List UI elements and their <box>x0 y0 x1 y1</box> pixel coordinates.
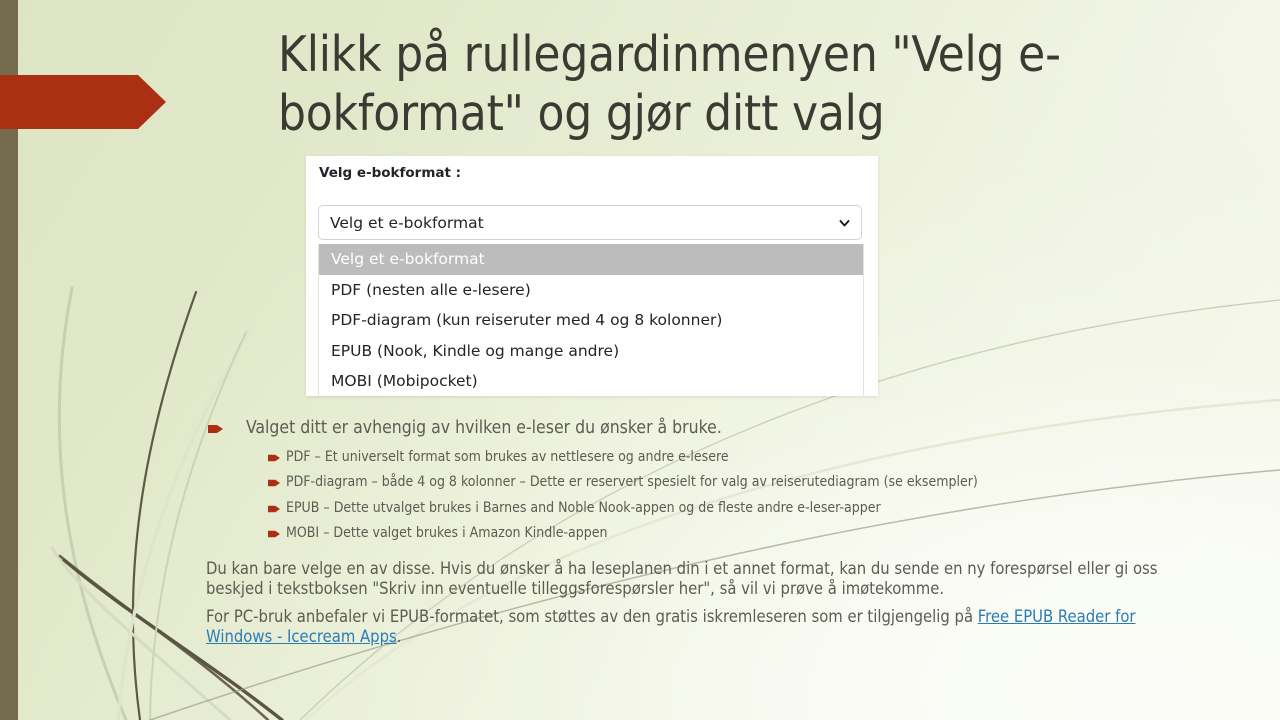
option-item[interactable]: Velg et e-bokformat <box>319 244 863 275</box>
arrow-bullet-icon <box>268 530 280 538</box>
option-item[interactable]: MOBI (Mobipocket) <box>319 366 863 396</box>
arrow-bullet-icon <box>268 479 280 487</box>
paragraph-recommendation: For PC-bruk anbefaler vi EPUB-formatet, … <box>206 607 1186 647</box>
red-arrow-banner <box>0 75 166 129</box>
embedded-screenshot-panel: Velg e-bokformat : Velg et e-bokformat V… <box>306 156 878 396</box>
paragraph-recommendation-tail: . <box>397 627 402 646</box>
select-selected-value: Velg et e-bokformat <box>319 214 484 232</box>
bullet-level2-text: PDF-diagram – både 4 og 8 kolonner – Det… <box>286 474 978 490</box>
option-item[interactable]: EPUB (Nook, Kindle og mange andre) <box>319 336 863 367</box>
bullet-level2: MOBI – Dette valget brukes i Amazon Kind… <box>206 525 1196 543</box>
bullet-level2-text: EPUB – Dette utvalget brukes i Barnes an… <box>286 500 881 516</box>
bullet-list: Valget ditt er avhengig av hvilken e-les… <box>206 418 1196 551</box>
paragraph-recommendation-lead: For PC-bruk anbefaler vi EPUB-formatet, … <box>206 607 978 626</box>
option-item[interactable]: PDF-diagram (kun reiseruter med 4 og 8 k… <box>319 305 863 336</box>
bullet-level1-text: Valget ditt er avhengig av hvilken e-les… <box>246 418 722 438</box>
bullet-level2: EPUB – Dette utvalget brukes i Barnes an… <box>206 500 1196 518</box>
ebook-format-option-list[interactable]: Velg et e-bokformat PDF (nesten alle e-l… <box>318 244 864 396</box>
bullet-level2-text: MOBI – Dette valget brukes i Amazon Kind… <box>286 525 608 541</box>
bullet-level2: PDF-diagram – både 4 og 8 kolonner – Det… <box>206 474 1196 492</box>
page-title: Klikk på rullegardinmenyen "Velg e-bokfo… <box>278 26 1148 144</box>
arrow-bullet-icon <box>268 454 280 462</box>
chevron-down-icon <box>838 216 851 229</box>
option-item[interactable]: PDF (nesten alle e-lesere) <box>319 275 863 306</box>
arrow-bullet-icon <box>208 424 223 434</box>
arrow-bullet-icon <box>268 505 280 513</box>
bullet-level2: PDF – Et universelt format som brukes av… <box>206 449 1196 467</box>
select-field-label: Velg e-bokformat : <box>319 165 461 181</box>
ebook-format-select[interactable]: Velg et e-bokformat <box>318 205 862 240</box>
bullet-level1: Valget ditt er avhengig av hvilken e-les… <box>206 418 1196 440</box>
slide-canvas: Klikk på rullegardinmenyen "Velg e-bokfo… <box>0 0 1280 720</box>
paragraph-note: Du kan bare velge en av disse. Hvis du ø… <box>206 559 1186 599</box>
bullet-level2-text: PDF – Et universelt format som brukes av… <box>286 449 729 465</box>
